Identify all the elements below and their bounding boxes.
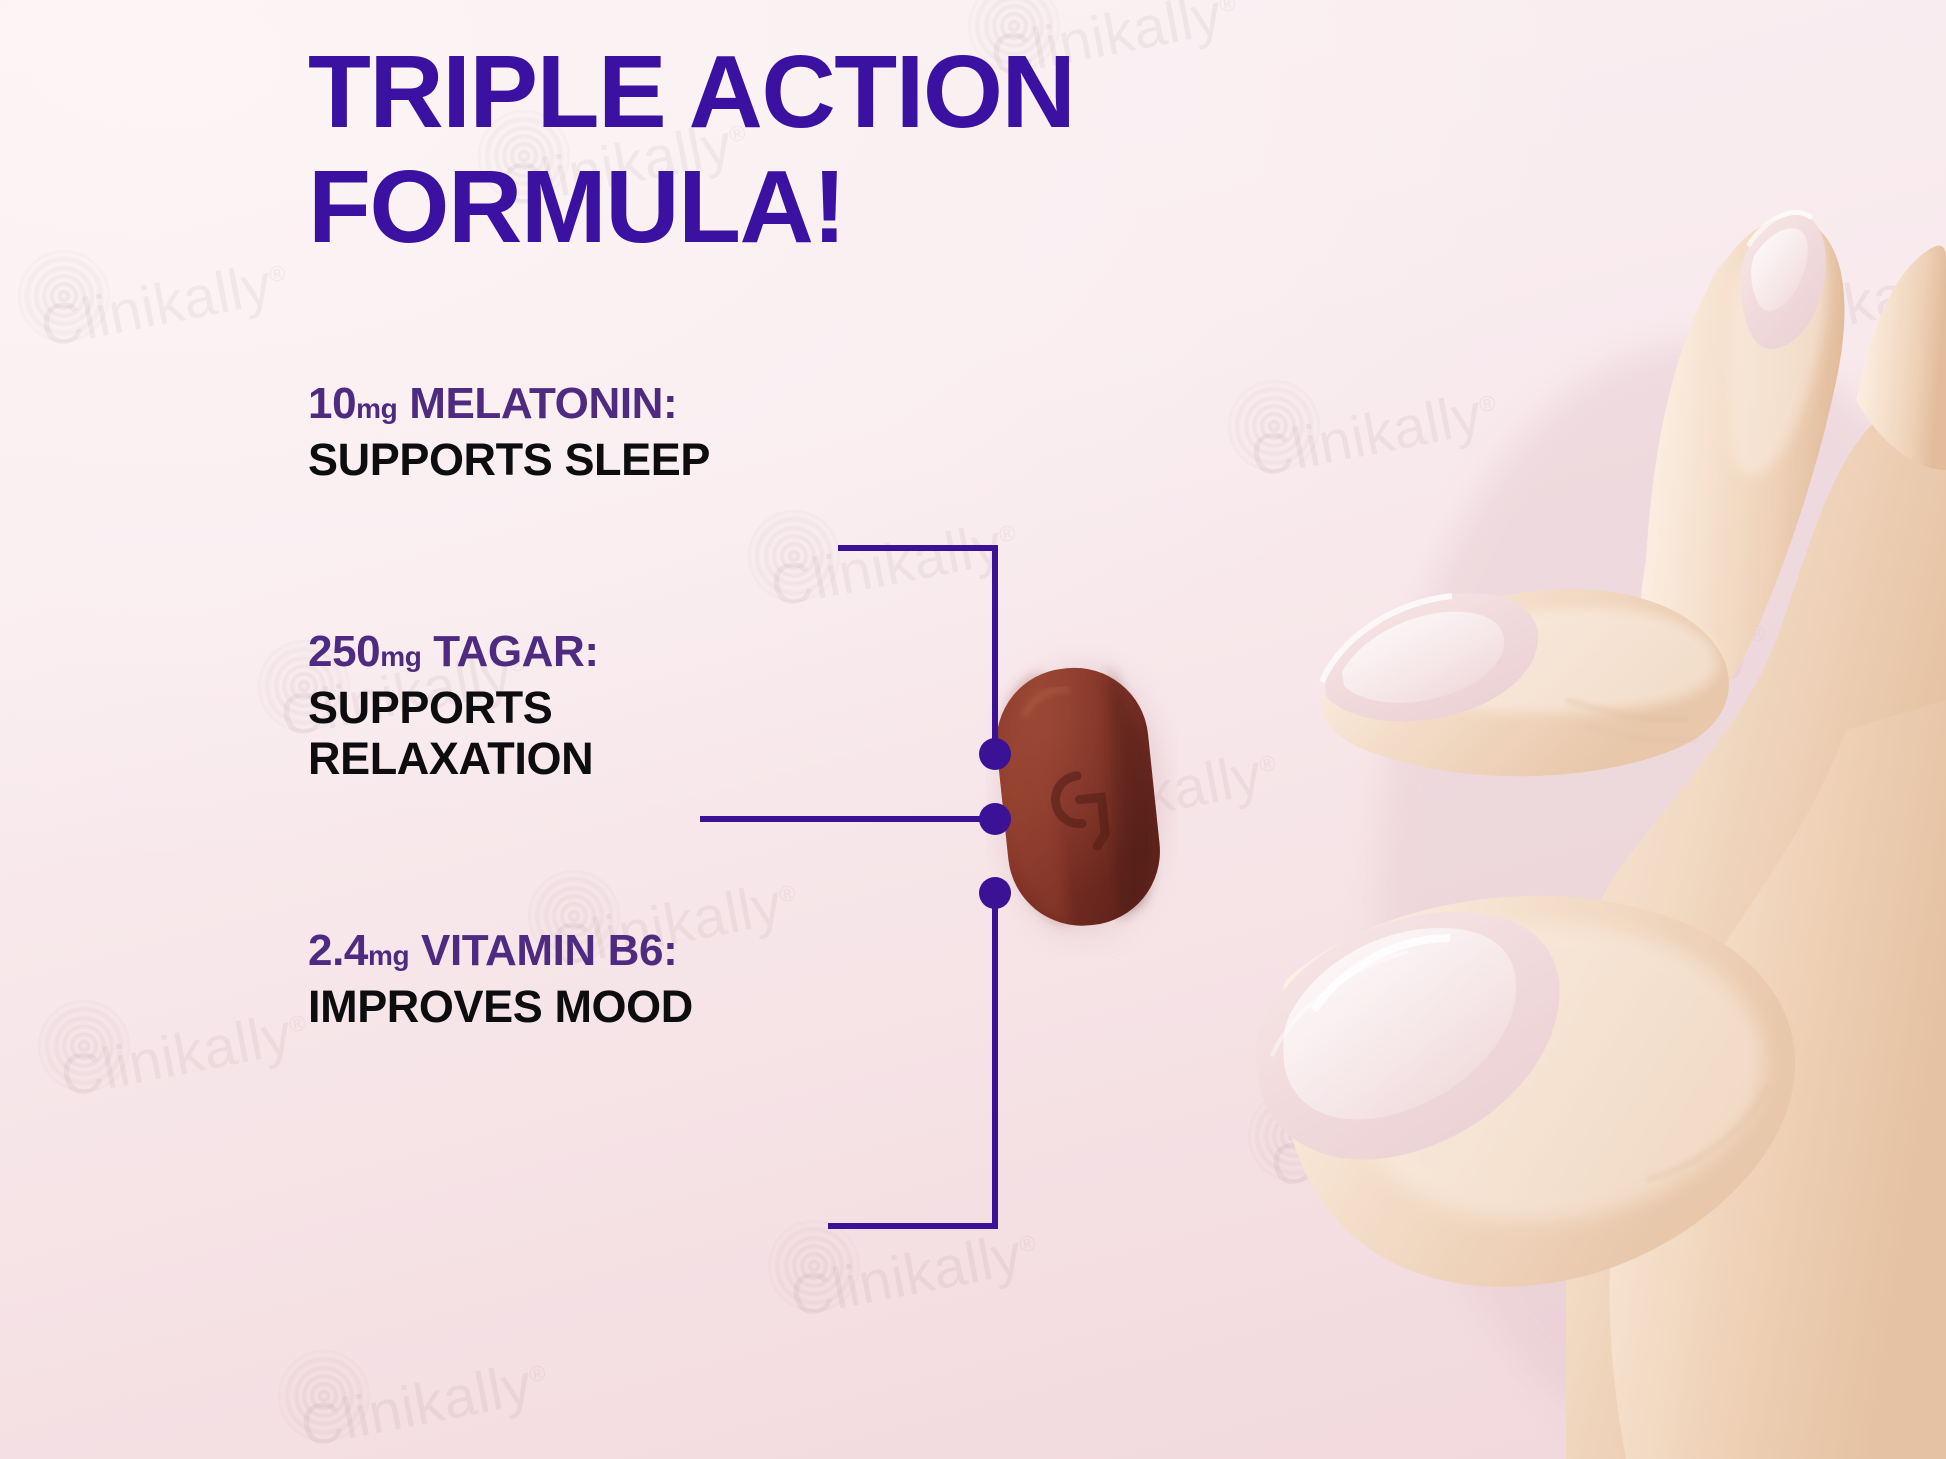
watermark: Clinikally® (1266, 1092, 1523, 1197)
watermark-registered-icon: ® (267, 260, 288, 288)
nail-thumb-gloss (1283, 928, 1516, 1120)
watermark-registered-icon: ® (1257, 750, 1278, 778)
promo-banner: Clinikally® Clinikally® Clinikally® Clin… (0, 0, 1946, 1459)
ingredient-callout-tagar: 250mg TAGAR: SUPPORTS RELAXATION (308, 626, 828, 785)
connector-line-b6 (828, 897, 995, 1226)
watermark-burst-icon (1000, 732, 1108, 840)
ingredient-name: VITAMIN B6: (421, 926, 677, 975)
dose-unit: mg (356, 393, 397, 424)
watermark: Clinikally® (1246, 382, 1503, 487)
watermark-registered-icon: ® (1747, 620, 1768, 648)
watermark-registered-icon: ® (1217, 0, 1238, 17)
nail-thumb (1256, 912, 1560, 1160)
ingredient-callout-vitamin-b6: 2.4mg VITAMIN B6: IMPROVES MOOD (308, 925, 828, 1032)
ingredient-dose-melatonin: 10mg MELATONIN: (308, 378, 828, 430)
benefit-line: IMPROVES MOOD (308, 981, 828, 1032)
dose-amount: 2.4 (308, 926, 368, 975)
ingredient-benefit-vitamin-b6: IMPROVES MOOD (308, 981, 828, 1032)
watermark-word: Clinikally (1725, 251, 1946, 359)
watermark-word: Clinikally (55, 1001, 297, 1109)
ingredient-dose-vitamin-b6: 2.4mg VITAMIN B6: (308, 925, 828, 977)
watermark: Clinikally® (56, 1002, 313, 1107)
dose-unit: mg (380, 641, 421, 672)
nail-middle-gloss (1751, 228, 1808, 310)
watermark: Clinikally® (786, 1222, 1043, 1327)
dose-unit: mg (368, 940, 409, 971)
pill-logo-icon (1053, 773, 1106, 849)
watermark-registered-icon: ® (1477, 390, 1498, 418)
page-title-line-1: TRIPLE ACTION (308, 34, 1188, 149)
watermark-word: Clinikally (1025, 741, 1267, 849)
watermark: Clinikally® (766, 512, 1023, 617)
finger-index (1322, 589, 1729, 776)
ingredient-callout-melatonin: 10mg MELATONIN: SUPPORTS SLEEP (308, 378, 828, 485)
nail-middle (1741, 215, 1826, 349)
connector-dot-melatonin (979, 738, 1011, 770)
watermark-burst-icon (1700, 242, 1808, 350)
dose-amount: 10 (308, 379, 356, 428)
watermark-word: Clinikally (765, 511, 1007, 619)
nail-index (1324, 593, 1538, 721)
pill-shadow (1002, 668, 1162, 932)
watermark: Clinikally® (1726, 252, 1946, 357)
watermark-word: Clinikally (1265, 1091, 1507, 1199)
ingredient-benefit-melatonin: SUPPORTS SLEEP (308, 434, 828, 485)
watermark-burst-icon (10, 242, 118, 350)
hand-ambient-shadow (1376, 340, 1946, 1459)
watermark-burst-icon (1490, 602, 1598, 710)
finger-middle (1640, 213, 1845, 713)
watermark-word: Clinikally (1515, 611, 1757, 719)
connector-line-melatonin (838, 548, 995, 752)
watermark-word: Clinikally (785, 1221, 1027, 1329)
ingredient-name: MELATONIN: (409, 379, 677, 428)
watermark-burst-icon (1720, 952, 1828, 1060)
ingredient-benefit-tagar: SUPPORTS RELAXATION (308, 682, 828, 785)
watermark-registered-icon: ® (997, 520, 1018, 548)
watermark-word: Clinikally (1745, 961, 1946, 1069)
watermark-registered-icon: ® (527, 1360, 548, 1388)
watermark-registered-icon: ® (777, 880, 798, 908)
watermark: Clinikally® (36, 252, 293, 357)
palm (1559, 400, 1946, 1459)
watermark-registered-icon: ® (287, 1010, 308, 1038)
watermark-burst-icon (270, 1342, 378, 1450)
page-title: TRIPLE ACTION FORMULA! (308, 34, 1188, 265)
benefit-line: RELAXATION (308, 733, 828, 784)
ingredient-name: TAGAR: (433, 627, 598, 676)
watermark-burst-icon (1220, 372, 1328, 480)
connector-dot-b6 (979, 877, 1011, 909)
watermark-word: Clinikally (1245, 381, 1487, 489)
pill (989, 661, 1167, 933)
watermark-word: Clinikally (295, 1351, 537, 1459)
nail-index-gloss (1342, 612, 1504, 703)
palm-highlight (1610, 700, 1946, 1459)
thumb (1256, 896, 1795, 1287)
watermark-burst-icon (30, 992, 138, 1100)
watermark-registered-icon: ® (1497, 1100, 1518, 1128)
page-title-line-2: FORMULA! (308, 149, 1188, 264)
watermark-burst-icon (740, 502, 848, 610)
watermark: Clinikally® (1516, 612, 1773, 717)
benefit-line: SUPPORTS (308, 682, 828, 733)
watermark-burst-icon (1240, 1082, 1348, 1190)
dose-amount: 250 (308, 627, 380, 676)
benefit-line: SUPPORTS SLEEP (308, 434, 828, 485)
ingredient-dose-tagar: 250mg TAGAR: (308, 626, 828, 678)
watermark-burst-icon (760, 1212, 868, 1320)
watermark-registered-icon: ® (1017, 1230, 1038, 1258)
finger-pinky (1856, 246, 1946, 470)
watermark: Clinikally® (1746, 962, 1946, 1067)
watermark: Clinikally® (1026, 742, 1283, 847)
watermark: Clinikally® (296, 1352, 553, 1457)
connector-dot-tagar (979, 803, 1011, 835)
watermark-word: Clinikally (35, 251, 277, 359)
